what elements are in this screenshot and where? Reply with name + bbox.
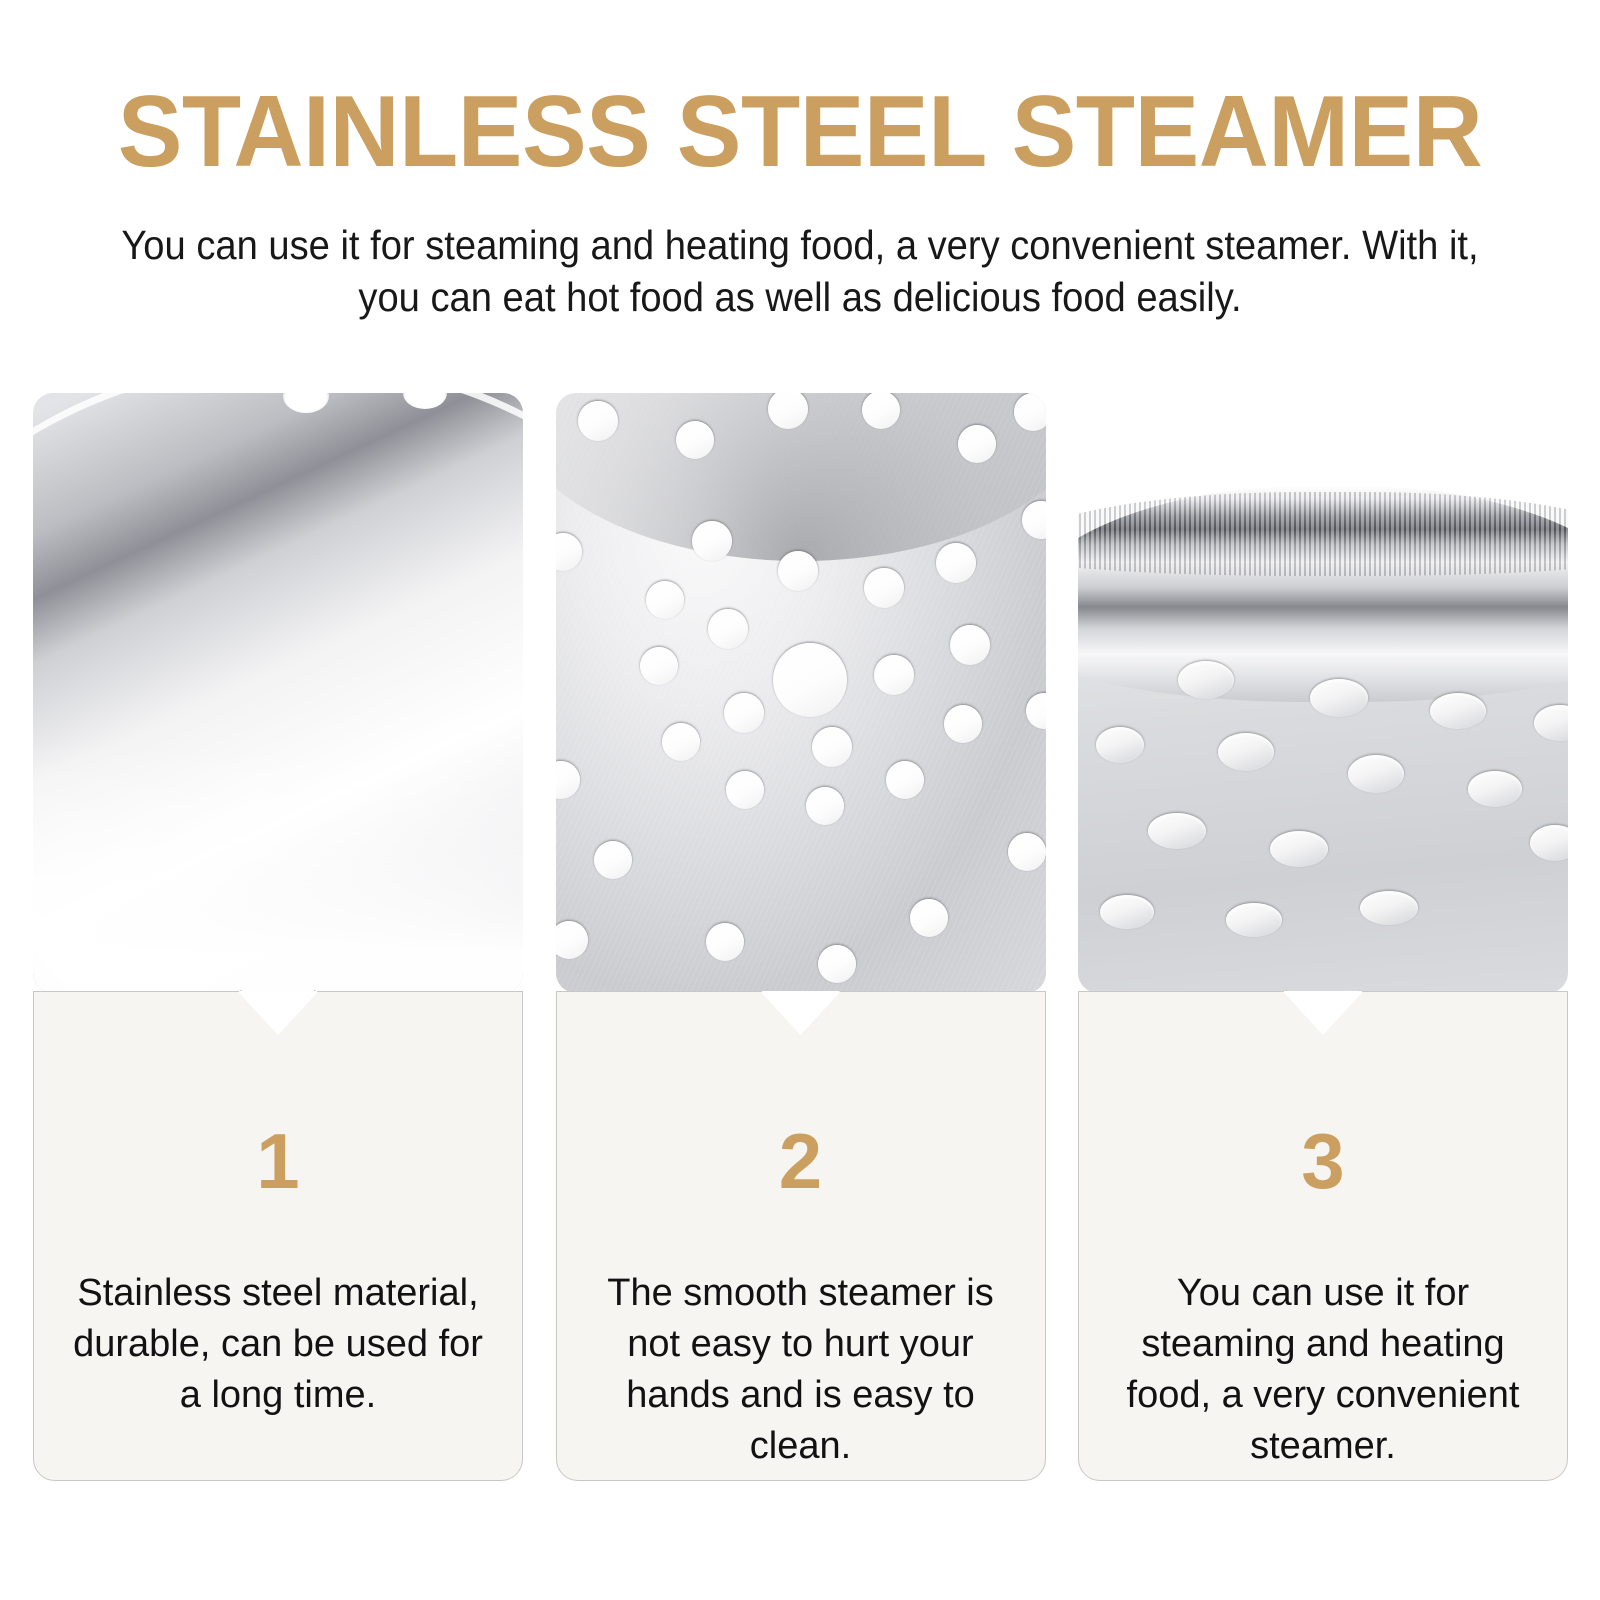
plate-hole [886, 761, 924, 799]
plate-hole [1270, 831, 1328, 867]
plate-hole [806, 787, 844, 825]
plate-hole [1096, 727, 1144, 763]
plate-hole [578, 401, 618, 441]
plate-hole [818, 945, 856, 983]
card-2-text-panel: 2 The smooth steamer is not easy to hurt… [556, 991, 1046, 1481]
plate-hole [692, 521, 732, 561]
page-subtitle: You can use it for steaming and heating … [116, 219, 1483, 324]
card-3-text-panel: 3 You can use it for steaming and heatin… [1078, 991, 1568, 1481]
plate-hole [874, 655, 914, 695]
plate-hole [768, 393, 808, 429]
plate-hole [936, 543, 976, 583]
card-3-caption: You can use it for steaming and heating … [1098, 1268, 1548, 1472]
plate-hole [910, 899, 948, 937]
card-2-photo-region [556, 393, 1046, 993]
feature-card-list: 1 Stainless steel material, durable, can… [33, 393, 1568, 1481]
plate-hole [662, 723, 700, 761]
feature-card-1: 1 Stainless steel material, durable, can… [33, 393, 523, 1481]
plate-hole [950, 625, 990, 665]
plate-hole [944, 705, 982, 743]
card-2-caption: The smooth steamer is not easy to hurt y… [576, 1268, 1026, 1472]
plate-hole [1430, 693, 1486, 729]
feature-card-2: 2 The smooth steamer is not easy to hurt… [556, 393, 1046, 1481]
plate-hole [1348, 755, 1404, 793]
plate-hole [1218, 733, 1274, 771]
rim-texture [1078, 492, 1568, 576]
plate-hole [706, 923, 744, 961]
plate-hole [1226, 903, 1282, 937]
plate-hole [1100, 895, 1154, 929]
plate-hole [1008, 833, 1046, 871]
plate-hole [676, 421, 714, 459]
plate-hole [1148, 813, 1206, 849]
plate-hole [646, 581, 684, 619]
page-title: STAINLESS STEEL STEAMER [32, 82, 1568, 183]
steamer-bowl-image [33, 393, 523, 993]
card-1-text-panel: 1 Stainless steel material, durable, can… [33, 991, 523, 1481]
card-1-caption: Stainless steel material, durable, can b… [53, 1268, 503, 1421]
steamer-angled-image [1078, 393, 1568, 993]
product-infographic: STAINLESS STEEL STEAMER You can use it f… [0, 0, 1600, 1600]
bowl-lower-fade [33, 741, 523, 993]
plate-hole [812, 727, 852, 767]
plate-center-hole [773, 643, 847, 717]
header: STAINLESS STEEL STEAMER You can use it f… [0, 0, 1600, 324]
card-1-photo-region [33, 393, 523, 993]
card-1-step-number: 1 [256, 1122, 299, 1200]
plate-hole [1178, 661, 1234, 699]
feature-card-3: 3 You can use it for steaming and heatin… [1078, 393, 1568, 1481]
plate-hole [640, 647, 678, 685]
card-3-step-number: 3 [1301, 1122, 1344, 1200]
plate-hole [1468, 771, 1522, 807]
plate-hole [726, 771, 764, 809]
plate-hole [778, 551, 818, 591]
card-3-photo-region [1078, 393, 1568, 993]
plate-hole [1310, 679, 1368, 717]
card-2-step-number: 2 [779, 1122, 822, 1200]
plate-hole [1360, 891, 1418, 925]
plate-hole [594, 841, 632, 879]
plate-hole [958, 425, 996, 463]
plate-hole [862, 393, 900, 429]
plate-hole [724, 693, 764, 733]
plate-hole [708, 609, 748, 649]
perforated-plate-image [556, 393, 1046, 993]
plate-hole [864, 568, 904, 608]
